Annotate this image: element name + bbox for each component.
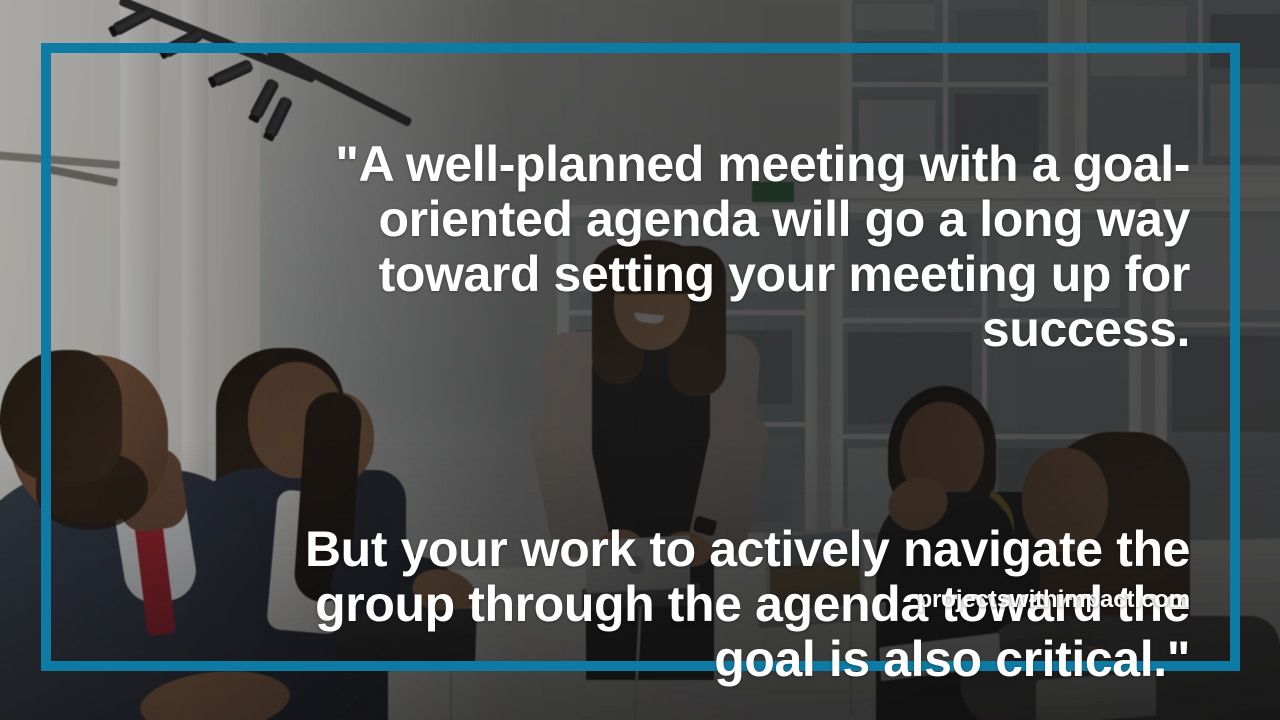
quote-text-block: "A well-planned meeting with a goal-orie… [300, 82, 1190, 720]
quote-graphic-canvas: "A well-planned meeting with a goal-orie… [0, 0, 1280, 720]
quote-paragraph-1: "A well-planned meeting with a goal-orie… [300, 137, 1190, 357]
website-url[interactable]: projectswithimpact.com [600, 586, 1190, 614]
quote-paragraph-spacer [300, 412, 1190, 467]
